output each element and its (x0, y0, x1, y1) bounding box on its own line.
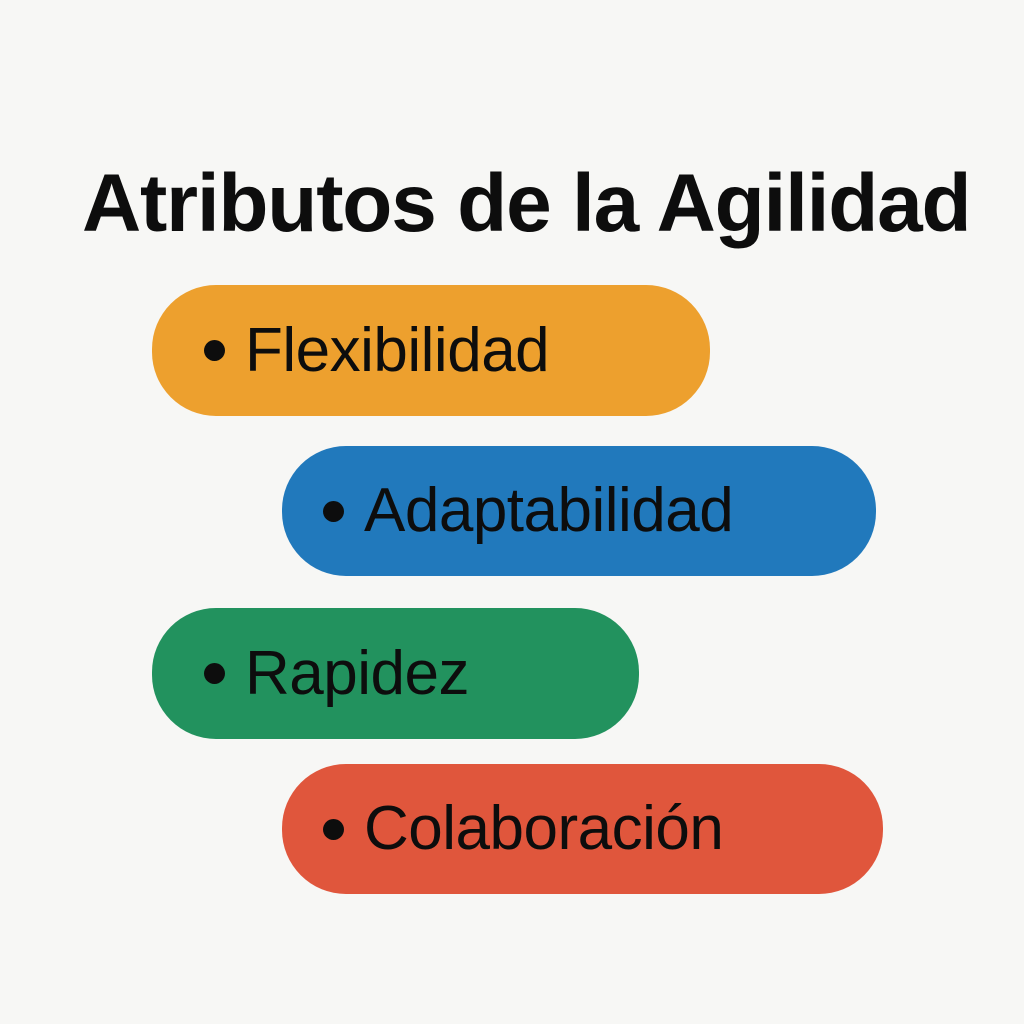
bullet-icon (204, 340, 225, 361)
bullet-icon (323, 819, 344, 840)
infographic-canvas: Atributos de la Agilidad Flexibilidad Ad… (0, 0, 1024, 1024)
attribute-label: Colaboración (364, 798, 723, 860)
page-title: Atributos de la Agilidad (82, 163, 962, 245)
bullet-icon (204, 663, 225, 684)
attribute-label: Adaptabilidad (364, 480, 733, 542)
bullet-icon (323, 501, 344, 522)
attribute-pill-adaptabilidad[interactable]: Adaptabilidad (282, 446, 876, 576)
attribute-pill-rapidez[interactable]: Rapidez (152, 608, 639, 739)
attribute-label: Flexibilidad (245, 320, 549, 382)
attribute-pill-flexibilidad[interactable]: Flexibilidad (152, 285, 710, 416)
attribute-label: Rapidez (245, 643, 469, 705)
attribute-pill-colaboracion[interactable]: Colaboración (282, 764, 883, 894)
